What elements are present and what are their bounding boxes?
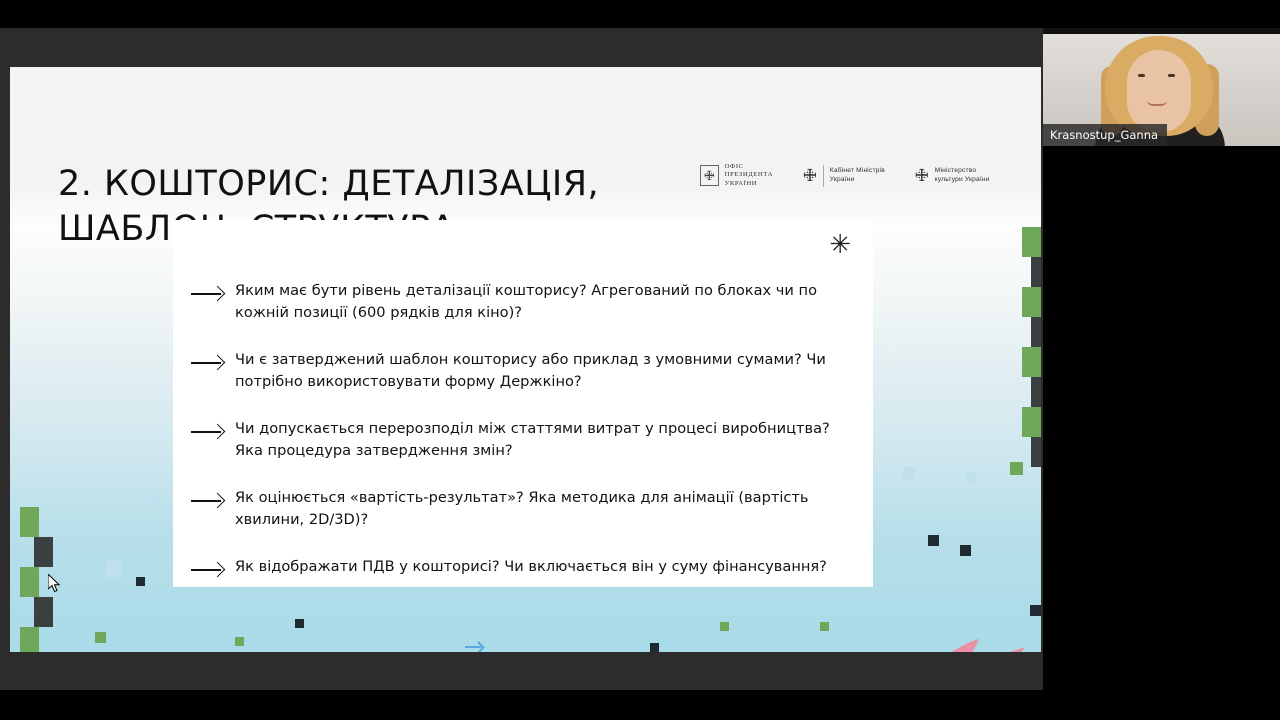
asterisk-icon: ✳: [829, 232, 851, 258]
decorative-square: [903, 467, 915, 479]
webcam-person-face: [1127, 50, 1191, 132]
questions-list: Яким має бути рівень деталізації коштори…: [191, 280, 857, 581]
letterbox-bottom: [0, 690, 1043, 720]
screen-capture: 2. КОШТОРИС: ДЕТАЛІЗАЦІЯ, ШАБЛОН, СТРУКТ…: [0, 0, 1280, 720]
arrow-right-icon: [191, 284, 223, 305]
decorative-square: [235, 637, 244, 646]
mouse-cursor: [48, 574, 62, 594]
decorative-square: [150, 497, 159, 506]
logo-ministry-of-culture: 🜋 Міністерство культури України: [915, 167, 990, 184]
logo-divider: [823, 165, 824, 187]
logo-office-of-the-president: 🜋 ОФІС ПРЕЗИДЕНТА УКРАЇНИ: [700, 163, 773, 188]
decorative-square: [928, 535, 939, 546]
decorative-square: [720, 622, 729, 631]
webcam-tile-footer: [1043, 146, 1280, 178]
arrow-right-icon: [191, 560, 223, 581]
decorative-square: [1030, 605, 1041, 616]
arrow-right-icon: [191, 353, 223, 374]
letterbox-right: [1043, 178, 1280, 720]
trident-icon: 🜋: [915, 167, 929, 184]
decorative-square: [95, 632, 106, 643]
presentation-slide[interactable]: 2. КОШТОРИС: ДЕТАЛІЗАЦІЯ, ШАБЛОН, СТРУКТ…: [10, 67, 1041, 652]
list-item: Чи є затверджений шаблон кошторису або п…: [191, 349, 857, 393]
logo-label: Міністерство культури України: [935, 167, 990, 184]
logo-label: Кабінет Міністрів України: [830, 167, 885, 184]
arrow-right-icon: [191, 491, 223, 512]
decorative-square: [295, 619, 304, 628]
letterbox-top: [0, 0, 1043, 28]
logo-cabinet-of-ministers: 🜋 Кабінет Міністрів України: [803, 165, 885, 187]
trident-icon: 🜋: [700, 165, 719, 186]
arrow-right-icon: [191, 422, 223, 443]
list-item: Як оцінюється «вартість-результат»? Яка …: [191, 487, 857, 531]
brand-logo: ТИСЯЧОВЕСНА ініціатива з підтримки украї…: [905, 637, 1040, 652]
decorative-square: [960, 545, 971, 556]
list-item-text: Чи є затверджений шаблон кошторису або п…: [235, 349, 857, 393]
list-item: Чи допускається перерозподіл між статтям…: [191, 418, 857, 462]
questions-card: ✳ Яким має бути рівень деталізації кошто…: [173, 220, 873, 587]
decorative-square: [820, 622, 829, 631]
webcam-tile[interactable]: Krasnostup_Ganna: [1043, 28, 1280, 178]
list-item-text: Чи допускається перерозподіл між статтям…: [235, 418, 857, 462]
list-item: Яким має бути рівень деталізації коштори…: [191, 280, 857, 324]
webcam-person-mouth: [1147, 100, 1167, 106]
webcam-person-eye-left: [1138, 74, 1145, 77]
decorative-square: [965, 472, 976, 483]
decorative-square: [1010, 462, 1023, 475]
trident-icon: 🜋: [803, 167, 817, 184]
participant-name-label: Krasnostup_Ganna: [1043, 124, 1167, 146]
arrow-right-accent-icon: [465, 642, 483, 652]
logo-label: ОФІС ПРЕЗИДЕНТА УКРАЇНИ: [725, 163, 773, 188]
list-item-text: Як оцінюється «вартість-результат»? Яка …: [235, 487, 857, 531]
list-item: Як відображати ПДВ у кошторисі? Чи включ…: [191, 556, 857, 581]
bird-icon: [905, 637, 1040, 652]
list-item-text: Яким має бути рівень деталізації коштори…: [235, 280, 857, 324]
government-logos: 🜋 ОФІС ПРЕЗИДЕНТА УКРАЇНИ 🜋 Кабінет Міні…: [700, 163, 990, 188]
decorative-square: [650, 643, 659, 652]
decorative-square: [136, 577, 145, 586]
decorative-square: [106, 561, 122, 577]
webcam-person-eye-right: [1168, 74, 1175, 77]
list-item-text: Як відображати ПДВ у кошторисі? Чи включ…: [235, 556, 827, 581]
